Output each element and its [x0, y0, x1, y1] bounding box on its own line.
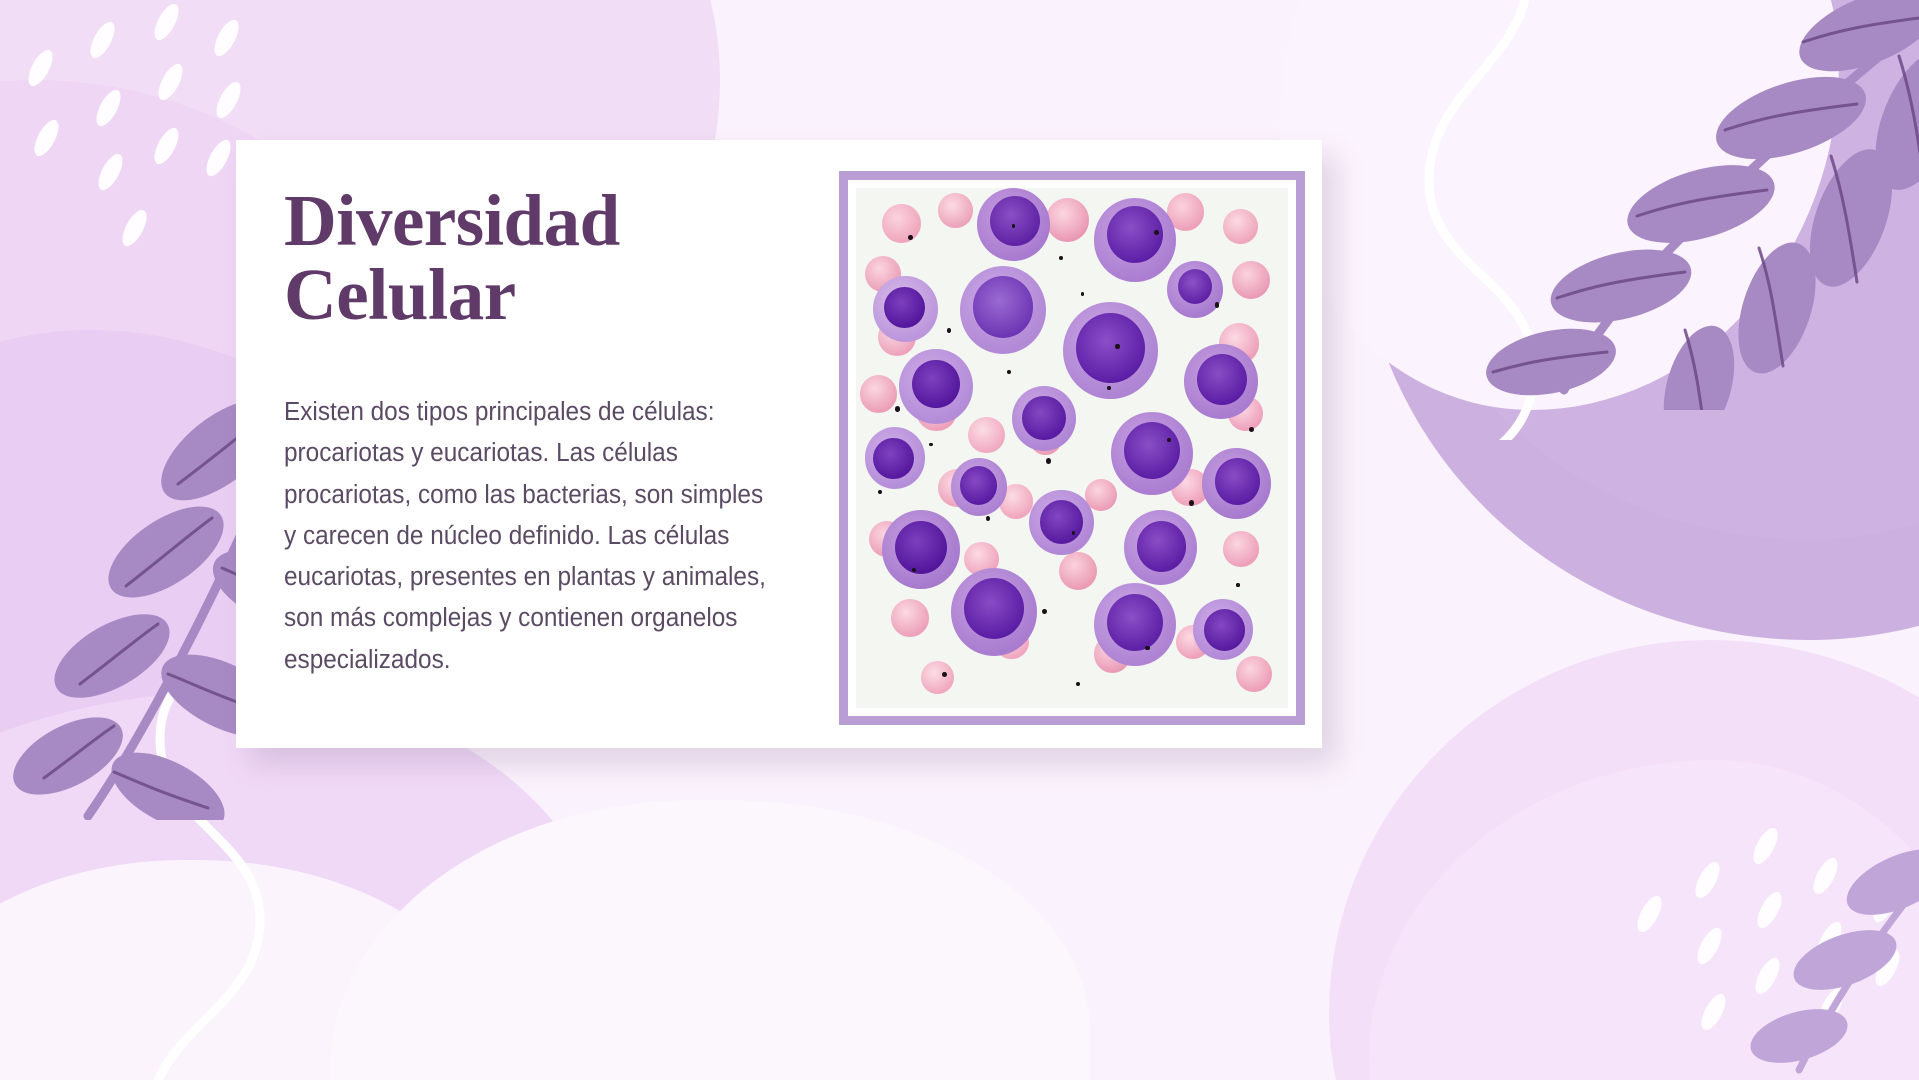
body-paragraph: Existen dos tipos principales de células…	[284, 392, 781, 681]
content-card: Diversidad Celular Existen dos tipos pri…	[236, 140, 1322, 748]
leaf-branch-top-right	[1399, 0, 1919, 410]
photo-frame	[839, 171, 1305, 725]
leaf-branch-bottom-right	[1649, 820, 1919, 1080]
page-title-line-2: Celular	[284, 258, 804, 332]
photo-mat	[848, 180, 1296, 716]
page-title-line-1: Diversidad	[284, 184, 804, 258]
dash-cluster-top-left	[22, 10, 262, 200]
slide-canvas: Diversidad Celular Existen dos tipos pri…	[0, 0, 1919, 1080]
page-title: Diversidad Celular	[284, 184, 804, 333]
cell-micrograph	[856, 188, 1288, 708]
